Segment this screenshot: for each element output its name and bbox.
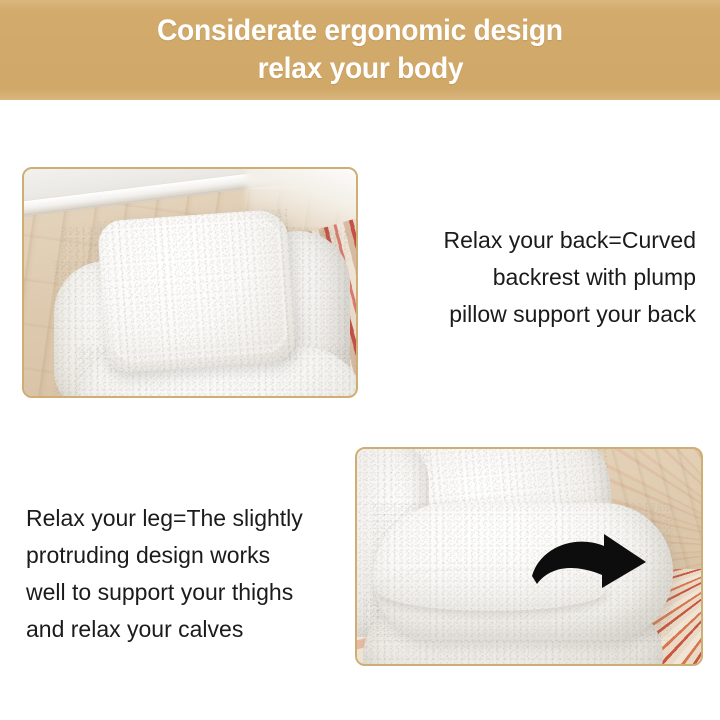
chair-seat-photo: [355, 447, 703, 666]
caption-line: Relax your leg=The slightly: [26, 500, 356, 537]
header-title-line-2: relax your body: [257, 50, 463, 88]
lumbar-pillow: [97, 209, 297, 374]
caption-line: well to support your thighs: [26, 574, 356, 611]
caption-line: pillow support your back: [386, 296, 696, 333]
chair-backrest-photo: [22, 167, 358, 398]
chair-seat-photo-scene: [357, 449, 701, 664]
header-banner: Considerate ergonomic design relax your …: [0, 0, 720, 100]
relax-your-leg-caption: Relax your leg=The slightly protruding d…: [26, 500, 356, 648]
caption-line: Relax your back=Curved: [386, 222, 696, 259]
caption-line: and relax your calves: [26, 611, 356, 648]
curved-arrow-icon: [530, 532, 648, 614]
relax-your-back-caption: Relax your back=Curved backrest with plu…: [386, 222, 696, 333]
chair-backrest-photo-scene: [24, 169, 356, 396]
pillow-seam: [106, 219, 289, 363]
caption-line: protruding design works: [26, 537, 356, 574]
header-title-line-1: Considerate ergonomic design: [157, 12, 563, 50]
caption-line: backrest with plump: [386, 259, 696, 296]
